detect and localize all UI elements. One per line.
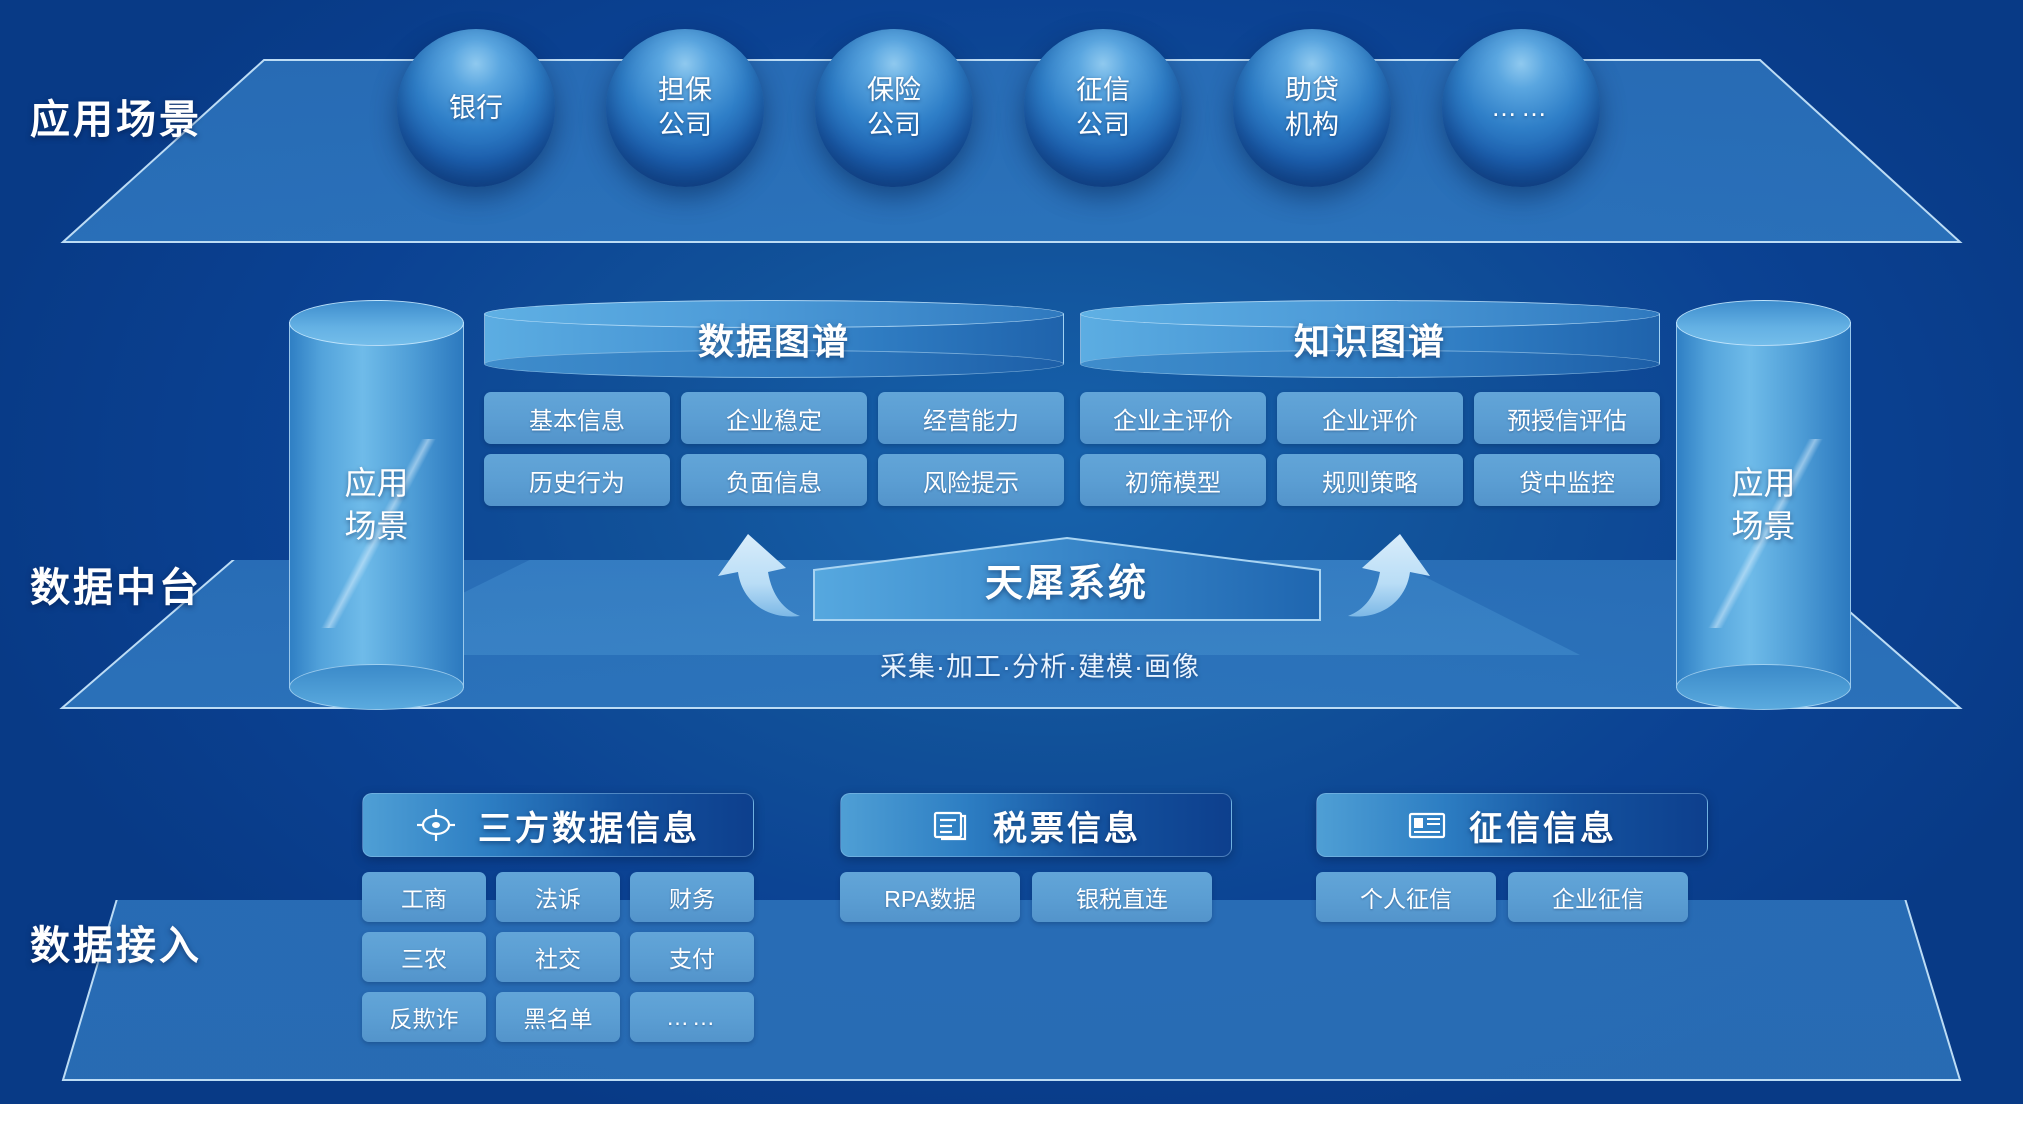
third-party-data-tag[interactable]: 黑名单 <box>496 992 620 1042</box>
third-party-data-tag[interactable]: 工商 <box>362 872 486 922</box>
knowledge-graph-tag[interactable]: 企业主评价 <box>1080 392 1266 444</box>
data-graph-tags: 基本信息 企业稳定 经营能力 历史行为 负面信息 风险提示 <box>484 392 1064 506</box>
tianxi-system-title: 天犀系统 <box>812 536 1322 622</box>
credit-report-data-header[interactable]: 征信信息 <box>1316 793 1708 857</box>
bottom-white-band <box>0 1104 2023 1130</box>
section-label-data-midplatform: 数据中台 <box>30 568 202 608</box>
scenario-sphere-loan-facilitation-label: 助贷 机构 <box>1285 73 1339 142</box>
third-party-data-tag[interactable]: …… <box>630 992 754 1042</box>
third-party-data-tag[interactable]: 三农 <box>362 932 486 982</box>
scenario-sphere-credit-company[interactable]: 征信 公司 <box>1024 29 1182 187</box>
data-graph-tag[interactable]: 风险提示 <box>878 454 1064 506</box>
data-graph-tag[interactable]: 企业稳定 <box>681 392 867 444</box>
knowledge-graph-tags: 企业主评价 企业评价 预授信评估 初筛模型 规则策略 贷中监控 <box>1080 392 1660 506</box>
knowledge-graph-tag[interactable]: 初筛模型 <box>1080 454 1266 506</box>
knowledge-graph-tag[interactable]: 预授信评估 <box>1474 392 1660 444</box>
knowledge-graph-title: 知识图谱 <box>1080 300 1660 378</box>
third-party-data-tag[interactable]: 支付 <box>630 932 754 982</box>
left-cylinder-label: 应用 场景 <box>289 300 464 710</box>
scenario-sphere-insurance-company-label: 保险 公司 <box>867 73 921 142</box>
knowledge-graph-tag[interactable]: 贷中监控 <box>1474 454 1660 506</box>
scenario-sphere-guarantee-company[interactable]: 担保 公司 <box>606 29 764 187</box>
third-party-data-title: 三方数据信息 <box>478 801 700 850</box>
data-graph-title: 数据图谱 <box>484 300 1064 378</box>
third-party-data-tag[interactable]: 反欺诈 <box>362 992 486 1042</box>
credit-report-data-tag[interactable]: 个人征信 <box>1316 872 1496 922</box>
scenario-sphere-insurance-company[interactable]: 保险 公司 <box>815 29 973 187</box>
left-application-scenario-cylinder[interactable]: 应用 场景 <box>289 300 464 710</box>
knowledge-graph-tag[interactable]: 企业评价 <box>1277 392 1463 444</box>
knowledge-graph-banner[interactable]: 知识图谱 <box>1080 300 1660 378</box>
tax-invoice-data-header[interactable]: 税票信息 <box>840 793 1232 857</box>
architecture-diagram: 应用场景 数据中台 数据接入 银行 担保 公司 保险 公司 征信 公司 助贷 机… <box>0 0 2023 1130</box>
credit-report-data-tags: 个人征信 企业征信 <box>1316 872 1708 922</box>
right-cylinder-label: 应用 场景 <box>1676 300 1851 710</box>
third-party-data-tag[interactable]: 财务 <box>630 872 754 922</box>
third-party-data-tag[interactable]: 社交 <box>496 932 620 982</box>
third-party-data-tags: 工商 法诉 财务 三农 社交 支付 反欺诈 黑名单 …… <box>362 872 754 1042</box>
data-graph-tag[interactable]: 基本信息 <box>484 392 670 444</box>
right-upward-arrow-icon <box>1330 528 1440 638</box>
tax-invoice-data-tag[interactable]: RPA数据 <box>840 872 1020 922</box>
tianxi-system-banner[interactable]: 天犀系统 <box>812 536 1322 622</box>
tax-invoice-data-tags: RPA数据 银税直连 <box>840 872 1232 922</box>
credit-report-data-title: 征信信息 <box>1469 801 1617 850</box>
scenario-sphere-loan-facilitation[interactable]: 助贷 机构 <box>1233 29 1391 187</box>
third-party-data-header[interactable]: 三方数据信息 <box>362 793 754 857</box>
scenario-sphere-bank[interactable]: 银行 <box>397 29 555 187</box>
right-application-scenario-cylinder[interactable]: 应用 场景 <box>1676 300 1851 710</box>
data-graph-tag[interactable]: 历史行为 <box>484 454 670 506</box>
scenario-sphere-bank-label: 银行 <box>449 91 503 126</box>
knowledge-graph-tag[interactable]: 规则策略 <box>1277 454 1463 506</box>
data-graph-tag[interactable]: 经营能力 <box>878 392 1064 444</box>
id-card-icon <box>1407 805 1447 845</box>
section-label-application-scenario: 应用场景 <box>30 100 202 140</box>
data-graph-tag[interactable]: 负面信息 <box>681 454 867 506</box>
scenario-sphere-guarantee-company-label: 担保 公司 <box>658 73 712 142</box>
section-label-data-access: 数据接入 <box>30 926 202 966</box>
tax-invoice-data-title: 税票信息 <box>993 801 1141 850</box>
crosshair-target-icon <box>416 805 456 845</box>
invoice-document-icon <box>931 805 971 845</box>
data-graph-banner[interactable]: 数据图谱 <box>484 300 1064 378</box>
tax-invoice-data-tag[interactable]: 银税直连 <box>1032 872 1212 922</box>
credit-report-data-tag[interactable]: 企业征信 <box>1508 872 1688 922</box>
scenario-sphere-more-label: …… <box>1491 91 1551 124</box>
application-scenario-platform <box>0 52 2023 252</box>
tianxi-system-subtitle: 采集·加工·分析·建模·画像 <box>880 645 1200 684</box>
scenario-sphere-credit-company-label: 征信 公司 <box>1076 73 1130 142</box>
left-upward-arrow-icon <box>708 528 818 638</box>
third-party-data-tag[interactable]: 法诉 <box>496 872 620 922</box>
scenario-sphere-more[interactable]: …… <box>1442 29 1600 187</box>
data-access-platform <box>0 900 2023 1110</box>
